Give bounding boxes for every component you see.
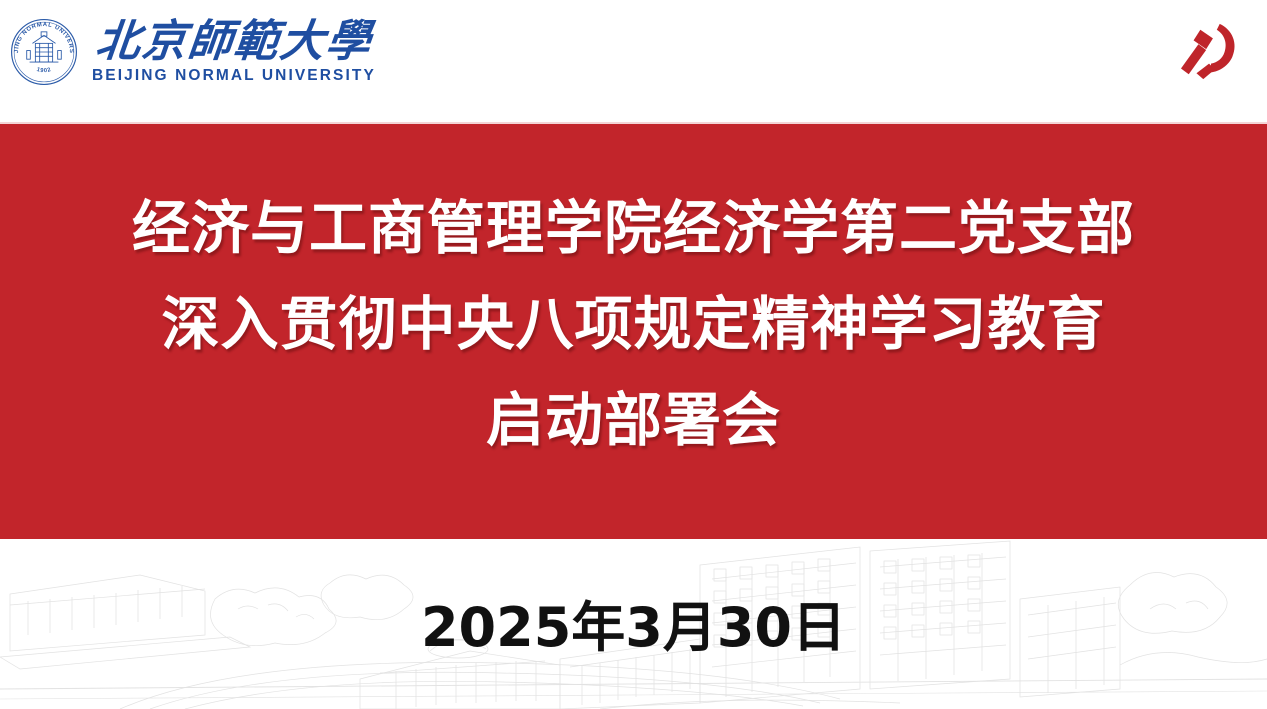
slide-header: BEIJING NORMAL UNIVERSITY 1902 xyxy=(0,0,1267,122)
bnu-wordmark: 北京師範大學 BEIJING NORMAL UNIVERSITY xyxy=(92,19,376,85)
banner-top-edge xyxy=(0,122,1267,124)
title-line-2: 深入贯彻中央八项规定精神学习教育 xyxy=(161,276,1105,372)
svg-text:1902: 1902 xyxy=(36,67,52,74)
cpc-hammer-sickle-icon xyxy=(1180,18,1242,84)
event-date: 2025年3月30日 xyxy=(0,583,1267,662)
bnu-chinese-name: 北京師範大學 xyxy=(94,19,375,65)
bnu-english-name: BEIJING NORMAL UNIVERSITY xyxy=(92,67,376,85)
bnu-seal-icon: BEIJING NORMAL UNIVERSITY 1902 xyxy=(8,16,80,88)
title-line-3: 启动部署会 xyxy=(486,372,781,468)
presentation-slide: BEIJING NORMAL UNIVERSITY 1902 xyxy=(0,0,1267,709)
bnu-logo-lockup: BEIJING NORMAL UNIVERSITY 1902 xyxy=(8,16,376,88)
title-banner: 经济与工商管理学院经济学第二党支部 深入贯彻中央八项规定精神学习教育 启动部署会 xyxy=(0,122,1267,539)
title-line-1: 经济与工商管理学院经济学第二党支部 xyxy=(132,180,1135,276)
